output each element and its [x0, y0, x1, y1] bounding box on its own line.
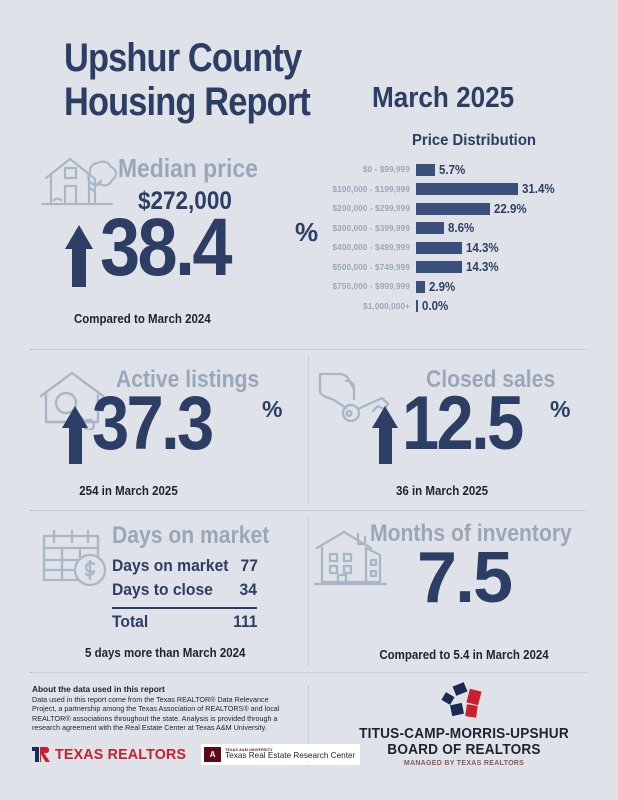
- price-distribution-rows: $0 - $99,9995.7%$100,000 - $199,99931.4%…: [330, 160, 618, 316]
- days-on-market-label: Days on market: [112, 522, 269, 550]
- table-row: Days to close 34: [112, 580, 257, 604]
- price-distribution-category-label: $750,000 - $999,999: [330, 282, 416, 291]
- active-listings-change: 37.3: [92, 386, 212, 462]
- price-distribution-bar: [416, 222, 444, 234]
- days-on-market-row-value: 77: [240, 556, 257, 576]
- price-distribution-category-label: $500,000 - $749,999: [330, 263, 416, 272]
- title-line-1: Upshur County: [64, 36, 301, 80]
- price-distribution-row: $200,000 - $299,99922.9%: [330, 199, 618, 219]
- board-name-line-2: BOARD OF REALTORS: [338, 742, 590, 758]
- months-of-inventory-value: 7.5: [310, 542, 618, 614]
- price-distribution-value-label: 5.7%: [439, 163, 465, 177]
- months-of-inventory-section: Months of inventory 7.5 Compared to 5.4 …: [310, 518, 618, 668]
- price-distribution-bar: [416, 183, 518, 195]
- median-price-section: Median price $272,000 38.4 % Compared to…: [0, 145, 330, 345]
- closed-sales-count: 36 in March 2025: [396, 484, 488, 498]
- board-managed-by: MANAGED BY TEXAS REALTORS: [330, 760, 598, 767]
- days-on-market-table: Days on market 77 Days to close 34 Total…: [112, 556, 257, 636]
- active-listings-up-arrow-icon: [62, 406, 90, 464]
- median-price-up-arrow-icon: [64, 225, 94, 287]
- price-distribution-bar: [416, 281, 425, 293]
- price-distribution-category-label: $0 - $99,999: [330, 165, 416, 174]
- table-row-total: Total 111: [112, 612, 257, 636]
- days-total-key: Total: [112, 612, 148, 632]
- price-distribution-value-label: 22.9%: [494, 202, 527, 216]
- price-distribution-row: $0 - $99,9995.7%: [330, 160, 618, 180]
- active-listings-count: 254 in March 2025: [79, 484, 177, 498]
- price-distribution-row: $300,000 - $399,9998.6%: [330, 219, 618, 239]
- report-month: March 2025: [372, 82, 516, 115]
- price-distribution-value-label: 31.4%: [522, 182, 555, 196]
- price-distribution-row: $100,000 - $199,99931.4%: [330, 180, 618, 200]
- price-distribution-row: $500,000 - $749,99914.3%: [330, 258, 618, 278]
- housing-report-infographic: Upshur County Housing Report March 2025 …: [0, 0, 618, 800]
- median-price-label: Median price: [118, 153, 258, 184]
- divider-row-1: [30, 349, 588, 350]
- about-heading: About the data used in this report: [32, 684, 165, 694]
- price-distribution-category-label: $400,000 - $499,999: [330, 243, 416, 252]
- page-title: Upshur County Housing Report: [64, 36, 322, 124]
- median-price-percent-sign: %: [295, 217, 318, 248]
- price-distribution-value-label: 14.3%: [466, 241, 499, 255]
- report-header: Upshur County Housing Report March 2025: [0, 0, 618, 145]
- price-distribution-value-label: 2.9%: [429, 280, 455, 294]
- divider-vertical-row-3: [308, 517, 309, 665]
- about-body: Data used in this report come from the T…: [32, 695, 284, 733]
- closed-sales-section: Closed sales 12.5 % 36 in March 2025: [310, 358, 618, 508]
- price-distribution-value-label: 14.3%: [466, 260, 499, 274]
- texas-realtors-mark-icon: [32, 746, 51, 763]
- price-distribution-row: $400,000 - $499,99914.3%: [330, 238, 618, 258]
- price-distribution-bar: [416, 164, 435, 176]
- median-price-comparison: Compared to March 2024: [74, 312, 211, 326]
- price-distribution-bar: [416, 261, 462, 273]
- median-price-change: 38.4: [100, 207, 230, 289]
- board-name-line-1: TITUS-CAMP-MORRIS-UPSHUR: [338, 726, 590, 742]
- days-on-market-row-key: Days on market: [112, 556, 228, 576]
- price-distribution-value-label: 8.6%: [448, 221, 474, 235]
- active-listings-percent-sign: %: [262, 396, 282, 423]
- divider-vertical-row-2: [308, 356, 309, 504]
- title-line-2: Housing Report: [64, 80, 322, 124]
- texas-realtors-logo-text: TEXAS REALTORS: [55, 746, 186, 763]
- board-of-realtors-logo: TITUS-CAMP-MORRIS-UPSHUR BOARD OF REALTO…: [330, 682, 598, 767]
- days-on-market-section: Days on market Days on market 77 Days to…: [0, 518, 305, 668]
- price-distribution-bar: [416, 242, 462, 254]
- active-listings-section: Active listings 37.3 % 254 in March 2025: [0, 358, 305, 508]
- days-total-value: 111: [233, 612, 257, 632]
- price-distribution-bar: [416, 300, 418, 312]
- price-distribution-chart: Price Distribution $0 - $99,9995.7%$100,…: [330, 132, 618, 337]
- days-to-close-row-value: 34: [240, 580, 257, 600]
- price-distribution-category-label: $1,000,000+: [330, 302, 416, 311]
- price-distribution-category-label: $100,000 - $199,999: [330, 185, 416, 194]
- closed-sales-up-arrow-icon: [372, 406, 400, 464]
- months-of-inventory-comparison: Compared to 5.4 in March 2024: [322, 648, 605, 662]
- table-rule: [112, 607, 257, 609]
- price-distribution-title: Price Distribution: [340, 132, 608, 150]
- price-distribution-row: $750,000 - $999,9992.9%: [330, 277, 618, 297]
- board-star-mark-icon: [432, 684, 496, 722]
- closed-sales-percent-sign: %: [550, 396, 570, 423]
- footer-logos: TEXAS REALTORS A TEXAS A&M UNIVERSITY Te…: [32, 744, 360, 765]
- price-distribution-value-label: 0.0%: [422, 299, 448, 313]
- divider-row-2: [30, 510, 588, 511]
- price-distribution-category-label: $200,000 - $299,999: [330, 204, 416, 213]
- price-distribution-row: $1,000,000+0.0%: [330, 297, 618, 317]
- divider-row-3: [30, 672, 588, 673]
- days-on-market-comparison: 5 days more than March 2024: [85, 646, 245, 660]
- price-distribution-category-label: $300,000 - $399,999: [330, 224, 416, 233]
- days-to-close-row-key: Days to close: [112, 580, 213, 600]
- report-footer: About the data used in this report Data …: [0, 682, 618, 800]
- table-row: Days on market 77: [112, 556, 257, 580]
- closed-sales-change: 12.5: [402, 386, 522, 462]
- texas-realtors-logo: TEXAS REALTORS: [32, 746, 193, 763]
- price-distribution-bar: [416, 203, 490, 215]
- texas-am-mark-icon: A: [204, 747, 221, 762]
